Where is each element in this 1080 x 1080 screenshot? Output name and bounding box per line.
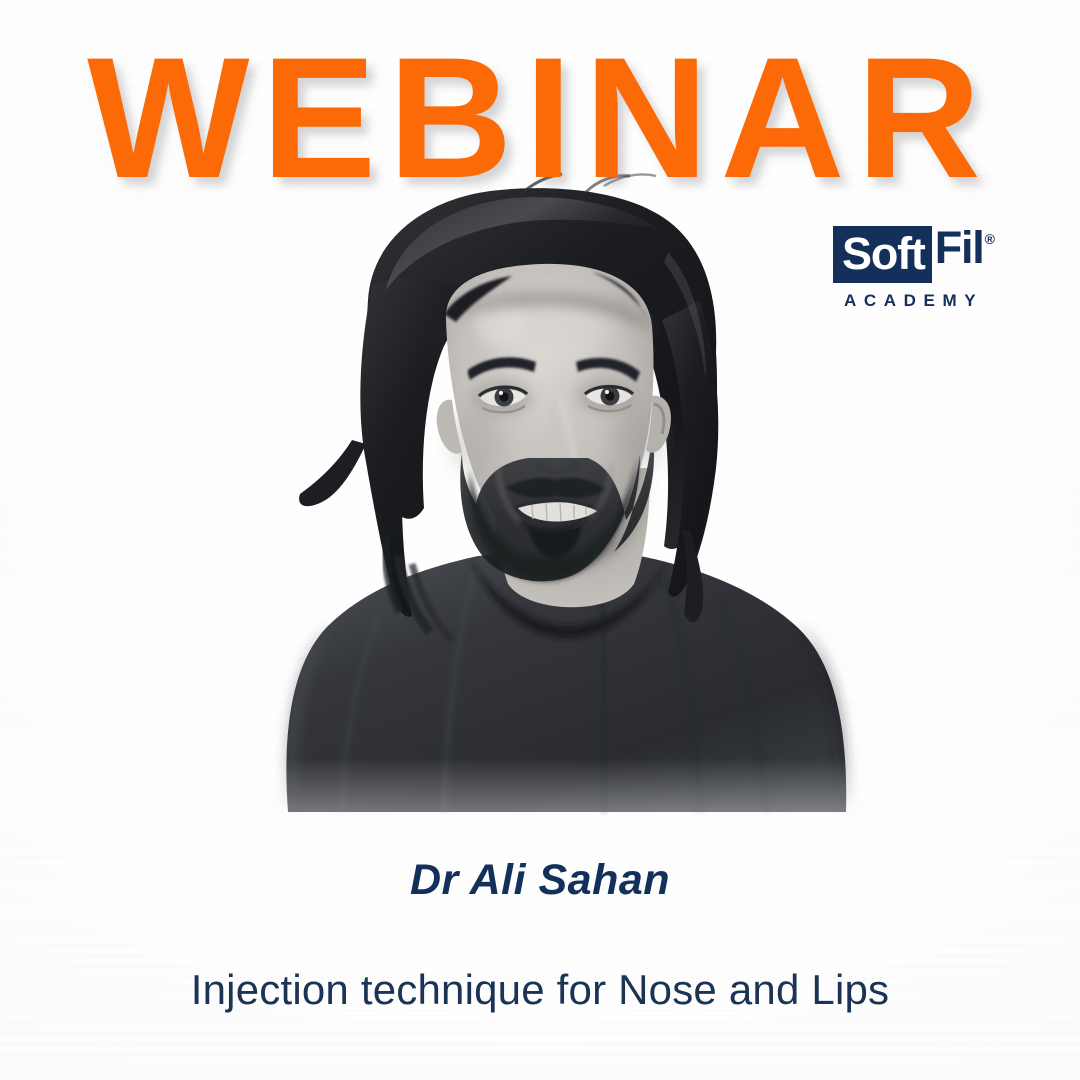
logo-word-soft: Soft [842, 231, 925, 276]
speaker-name: Dr Ali Sahan [0, 856, 1080, 905]
logo-subtitle-academy: ACADEMY [833, 291, 1013, 311]
registered-trademark-icon: ® [984, 226, 995, 246]
page-title: WEBINAR [0, 32, 1080, 204]
logo-box: Soft [833, 226, 932, 283]
talk-title: Injection technique for Nose and Lips [0, 966, 1080, 1014]
logo-wordmark: Soft Fil ® [833, 226, 1013, 283]
webinar-poster: WEBINAR Soft Fil ® ACADEMY Dr Ali Sahan … [0, 0, 1080, 1080]
logo-word-fil: Fil [932, 225, 984, 270]
softfil-academy-logo: Soft Fil ® ACADEMY [833, 226, 1013, 311]
